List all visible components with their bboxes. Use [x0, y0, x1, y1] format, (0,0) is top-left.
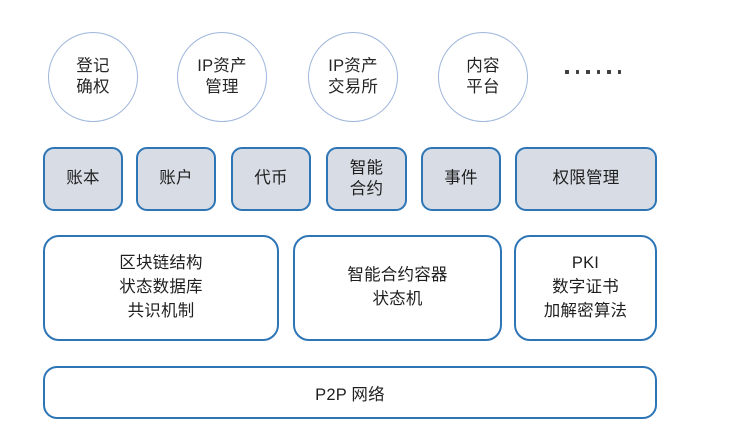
app-node-ip-asset-management-line-1: IP资产: [197, 56, 246, 77]
core-box-crypto-pki-line-1: PKI: [572, 252, 599, 276]
capability-box-event-label: 事件: [444, 168, 477, 189]
capability-box-token[interactable]: 代币: [231, 147, 311, 211]
app-more-ellipsis-icon: [565, 70, 621, 74]
capability-box-event[interactable]: 事件: [421, 147, 501, 211]
capability-box-permission-management-label: 权限管理: [553, 168, 620, 189]
app-node-content-platform-line-2: 平台: [466, 77, 499, 98]
ellipsis-dot: [618, 70, 622, 74]
capability-box-ledger[interactable]: 账本: [43, 147, 123, 211]
core-box-contract-engine-line-2: 状态机: [372, 288, 422, 312]
capability-box-ledger-label: 账本: [66, 168, 99, 189]
app-node-ip-asset-exchange-line-1: IP资产: [328, 56, 377, 77]
capability-box-smart-contract[interactable]: 智能 合约: [326, 147, 407, 211]
ellipsis-dot: [607, 70, 611, 74]
app-node-ip-asset-exchange-line-2: 交易所: [328, 77, 378, 98]
app-node-ip-asset-exchange[interactable]: IP资产 交易所: [308, 32, 398, 122]
core-box-crypto-pki[interactable]: PKI 数字证书 加解密算法: [514, 235, 657, 341]
core-box-crypto-pki-line-3: 加解密算法: [544, 300, 628, 324]
capability-box-permission-management[interactable]: 权限管理: [515, 147, 657, 211]
core-box-contract-engine-line-1: 智能合约容器: [347, 264, 447, 288]
core-box-chain-core-line-1: 区块链结构: [119, 252, 203, 276]
app-node-content-platform[interactable]: 内容 平台: [438, 32, 528, 122]
app-node-ip-asset-management[interactable]: IP资产 管理: [177, 32, 267, 122]
app-node-ip-asset-management-line-2: 管理: [205, 77, 238, 98]
app-node-content-platform-line-1: 内容: [466, 56, 499, 77]
core-box-chain-core-line-2: 状态数据库: [119, 276, 203, 300]
network-box-p2p-label: P2P 网络: [315, 381, 385, 405]
network-box-p2p[interactable]: P2P 网络: [43, 366, 657, 419]
ellipsis-dot: [586, 70, 590, 74]
capability-box-account-label: 账户: [159, 168, 192, 189]
ellipsis-dot: [597, 70, 601, 74]
architecture-diagram: 登记 确权 IP资产 管理 IP资产 交易所 内容 平台 账本 账户 代币 智能…: [0, 0, 744, 441]
capability-box-smart-contract-line-1: 智能: [350, 158, 383, 179]
app-node-registration[interactable]: 登记 确权: [48, 32, 138, 122]
ellipsis-dot: [576, 70, 580, 74]
capability-box-account[interactable]: 账户: [136, 147, 216, 211]
core-box-chain-core[interactable]: 区块链结构 状态数据库 共识机制: [43, 235, 279, 341]
capability-box-smart-contract-line-2: 合约: [350, 179, 383, 200]
core-box-chain-core-line-3: 共识机制: [128, 300, 195, 324]
core-box-crypto-pki-line-2: 数字证书: [552, 276, 619, 300]
app-node-registration-line-2: 确权: [76, 77, 109, 98]
ellipsis-dot: [565, 70, 569, 74]
capability-box-token-label: 代币: [254, 168, 287, 189]
app-node-registration-line-1: 登记: [76, 56, 109, 77]
core-box-contract-engine[interactable]: 智能合约容器 状态机: [293, 235, 502, 341]
